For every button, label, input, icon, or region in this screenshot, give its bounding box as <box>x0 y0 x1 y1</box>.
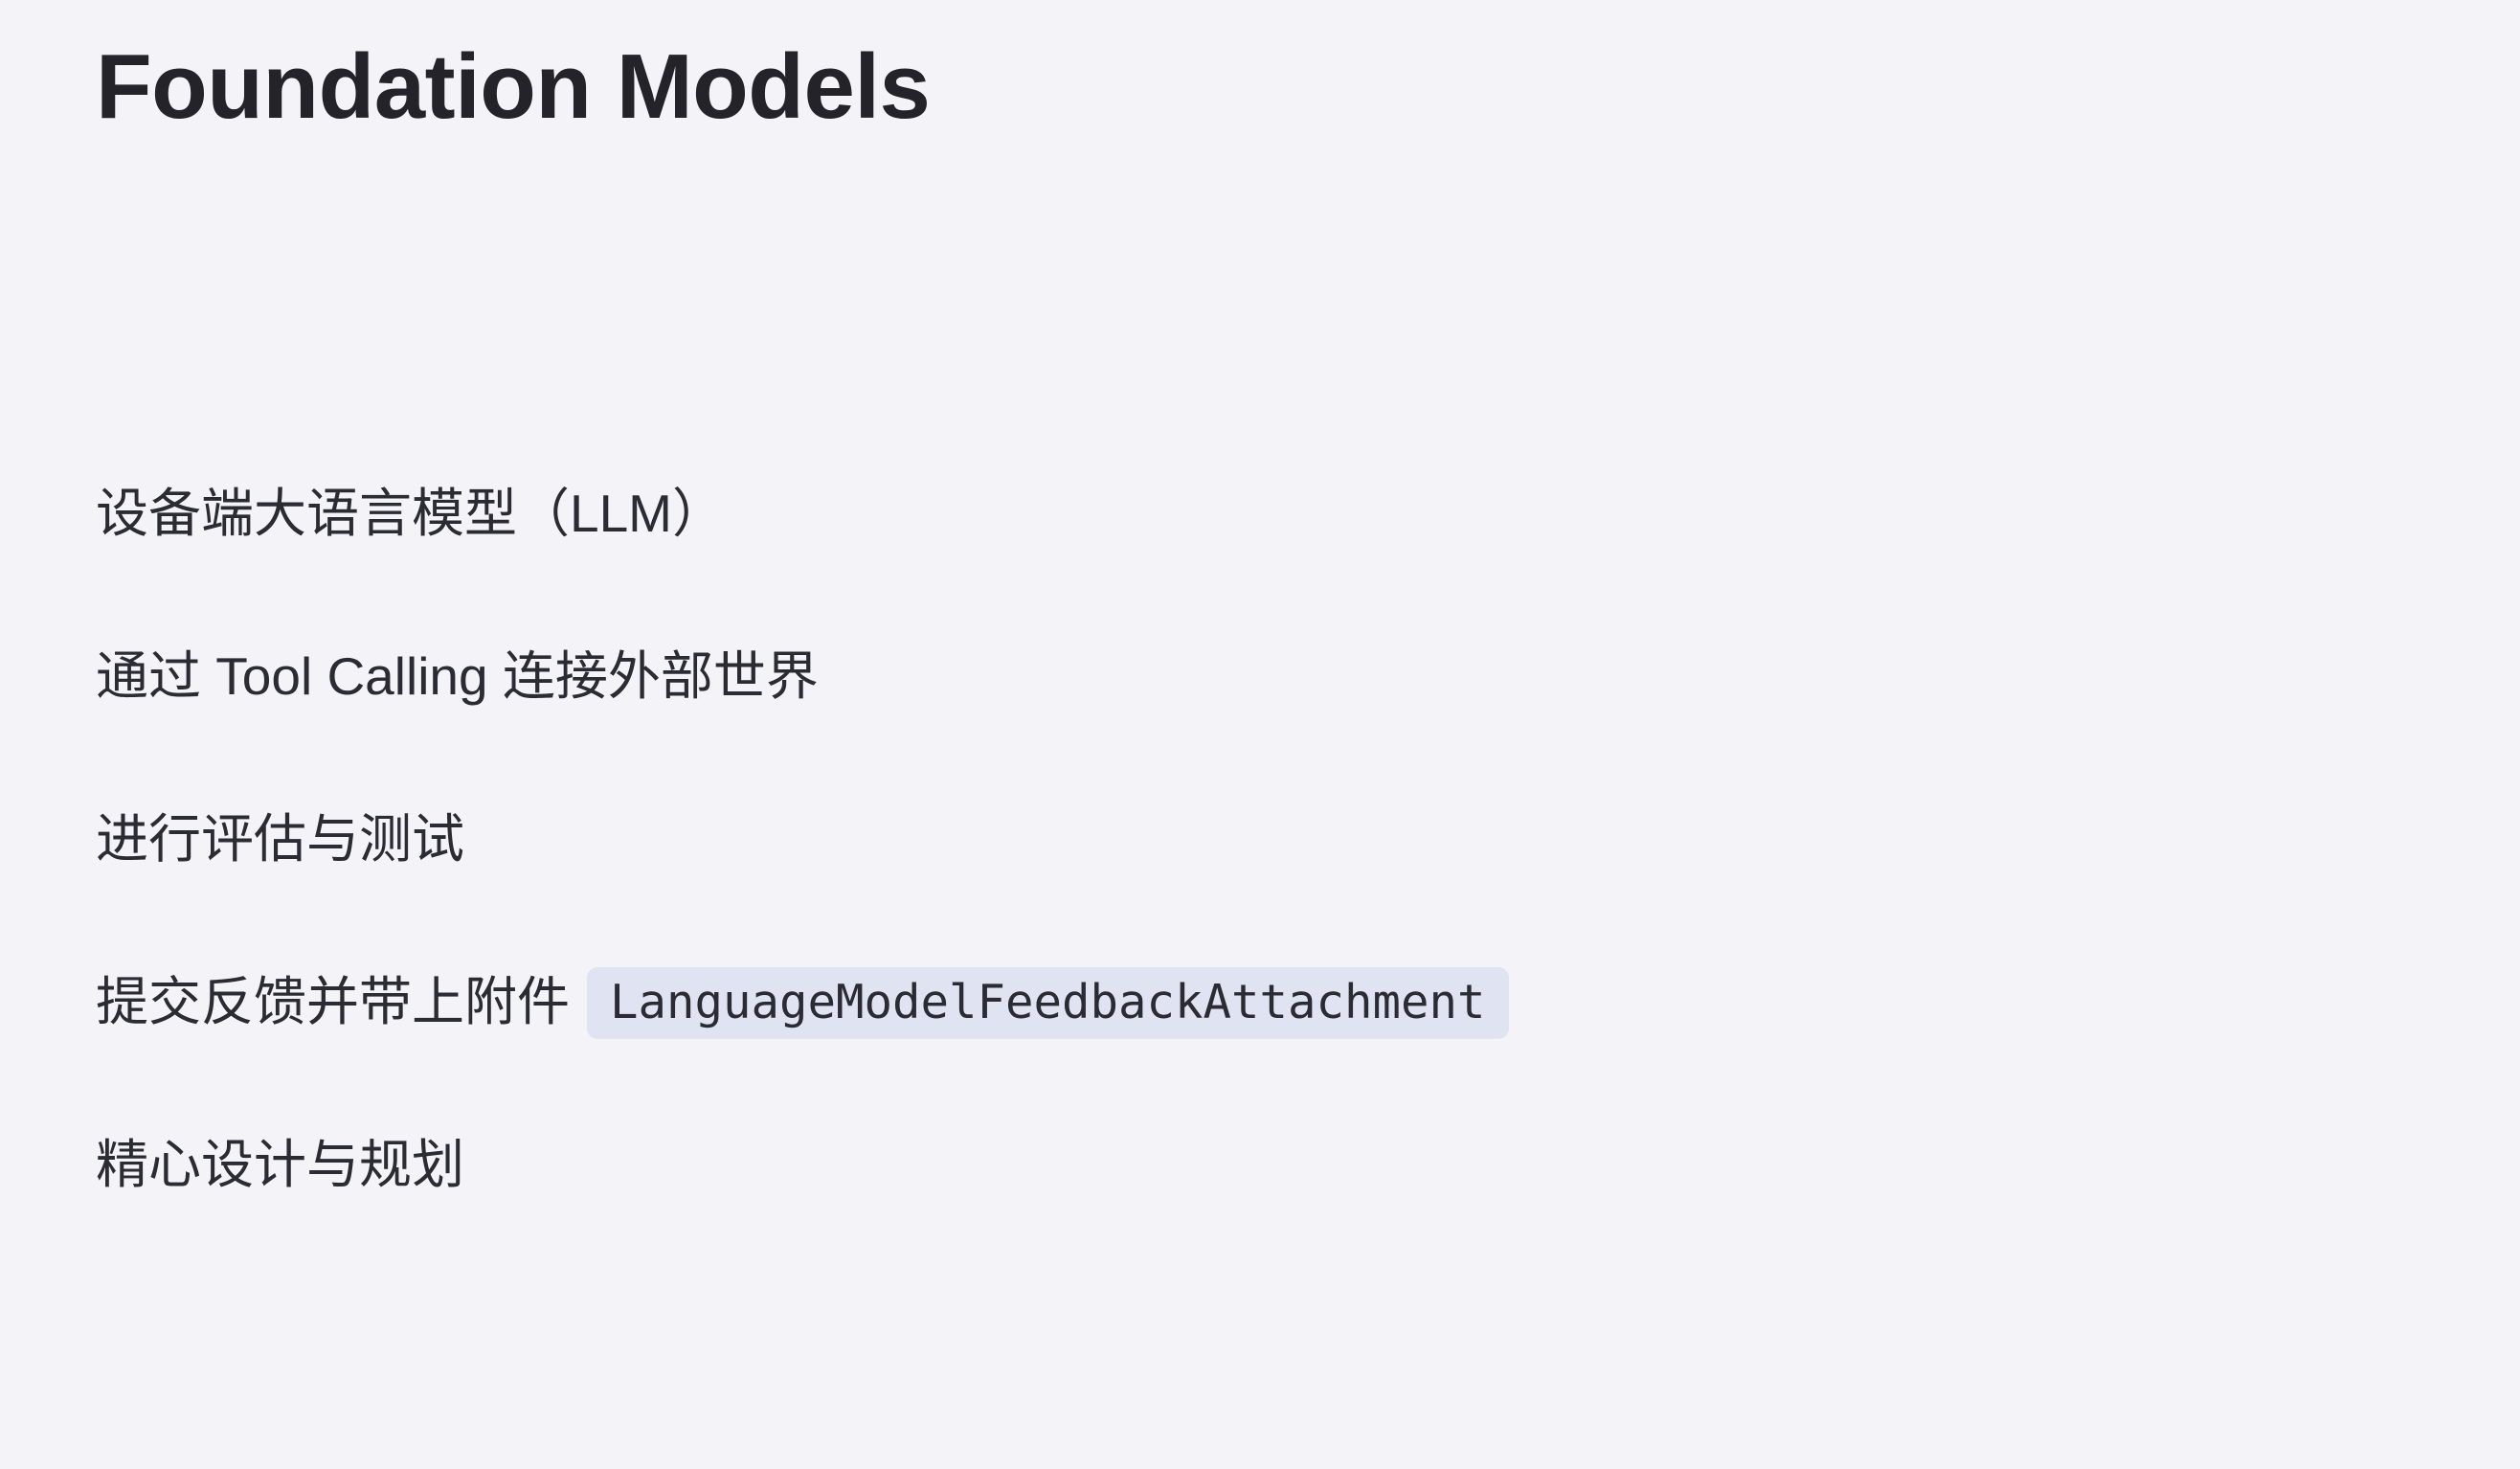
list-item: 设备端大语言模型（LLM） <box>96 433 2394 596</box>
bullet-label: 精心设计与规划 <box>96 1131 464 1200</box>
inline-code-chip: LanguageModelFeedbackAttachment <box>587 967 1509 1039</box>
list-item: 通过 Tool Calling 连接外部世界 <box>96 596 2394 758</box>
bullet-label: 通过 Tool Calling 连接外部世界 <box>96 643 819 712</box>
bullet-list: 设备端大语言模型（LLM） 通过 Tool Calling 连接外部世界 进行评… <box>96 433 2394 1247</box>
bullet-label: 提交反馈并带上附件 <box>96 968 570 1037</box>
list-item: 精心设计与规划 <box>96 1084 2394 1247</box>
bullet-label: 进行评估与测试 <box>96 805 464 874</box>
list-item: 进行评估与测试 <box>96 758 2394 921</box>
page-title: Foundation Models <box>96 34 930 140</box>
list-item: 提交反馈并带上附件 LanguageModelFeedbackAttachmen… <box>96 921 2394 1084</box>
bullet-label: 设备端大语言模型（LLM） <box>96 480 725 549</box>
slide-root: Foundation Models 设备端大语言模型（LLM） 通过 Tool … <box>0 0 2520 1469</box>
